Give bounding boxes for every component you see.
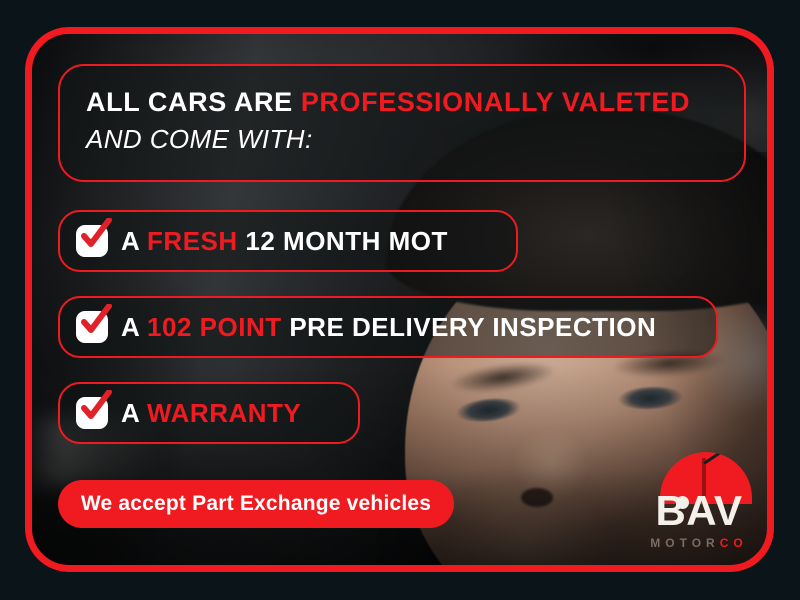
feature-label-mot: A FRESH 12 MONTH MOT	[121, 226, 448, 257]
headline-line-1: ALL CARS ARE PROFESSIONALLY VALETED	[86, 84, 720, 120]
feature-suffix: 12 MONTH MOT	[238, 226, 448, 256]
feature-label-inspection: A 102 POINT PRE DELIVERY INSPECTION	[121, 312, 656, 343]
feature-prefix: A	[121, 226, 147, 256]
headline-line-2: AND COME WITH:	[86, 122, 720, 157]
feature-pill-inspection: A 102 POINT PRE DELIVERY INSPECTION	[58, 296, 718, 358]
feature-label-warranty: A WARRANTY	[121, 398, 301, 429]
checkbox-checked-icon	[76, 397, 108, 429]
feature-highlight: FRESH	[147, 226, 238, 256]
feature-highlight: 102 POINT	[147, 312, 282, 342]
part-exchange-badge[interactable]: We accept Part Exchange vehicles	[58, 480, 454, 528]
headline-highlight: PROFESSIONALLY VALETED	[301, 87, 690, 117]
feature-suffix: PRE DELIVERY INSPECTION	[282, 312, 657, 342]
content-column: ALL CARS ARE PROFESSIONALLY VALETED AND …	[58, 52, 748, 552]
feature-pill-warranty: A WARRANTY	[58, 382, 360, 444]
feature-prefix: A	[121, 312, 147, 342]
page-title: ALL CARS ARE PROFESSIONALLY VALETED AND …	[86, 84, 720, 157]
feature-pill-mot: A FRESH 12 MONTH MOT	[58, 210, 518, 272]
feature-highlight: WARRANTY	[147, 398, 301, 428]
promo-banner: ALL CARS ARE PROFESSIONALLY VALETED AND …	[0, 0, 800, 600]
checkbox-checked-icon	[76, 311, 108, 343]
headline-box: ALL CARS ARE PROFESSIONALLY VALETED AND …	[58, 64, 746, 182]
feature-prefix: A	[121, 398, 147, 428]
checkbox-checked-icon	[76, 225, 108, 257]
part-exchange-label: We accept Part Exchange vehicles	[81, 492, 431, 516]
headline-plain: ALL CARS ARE	[86, 87, 301, 117]
